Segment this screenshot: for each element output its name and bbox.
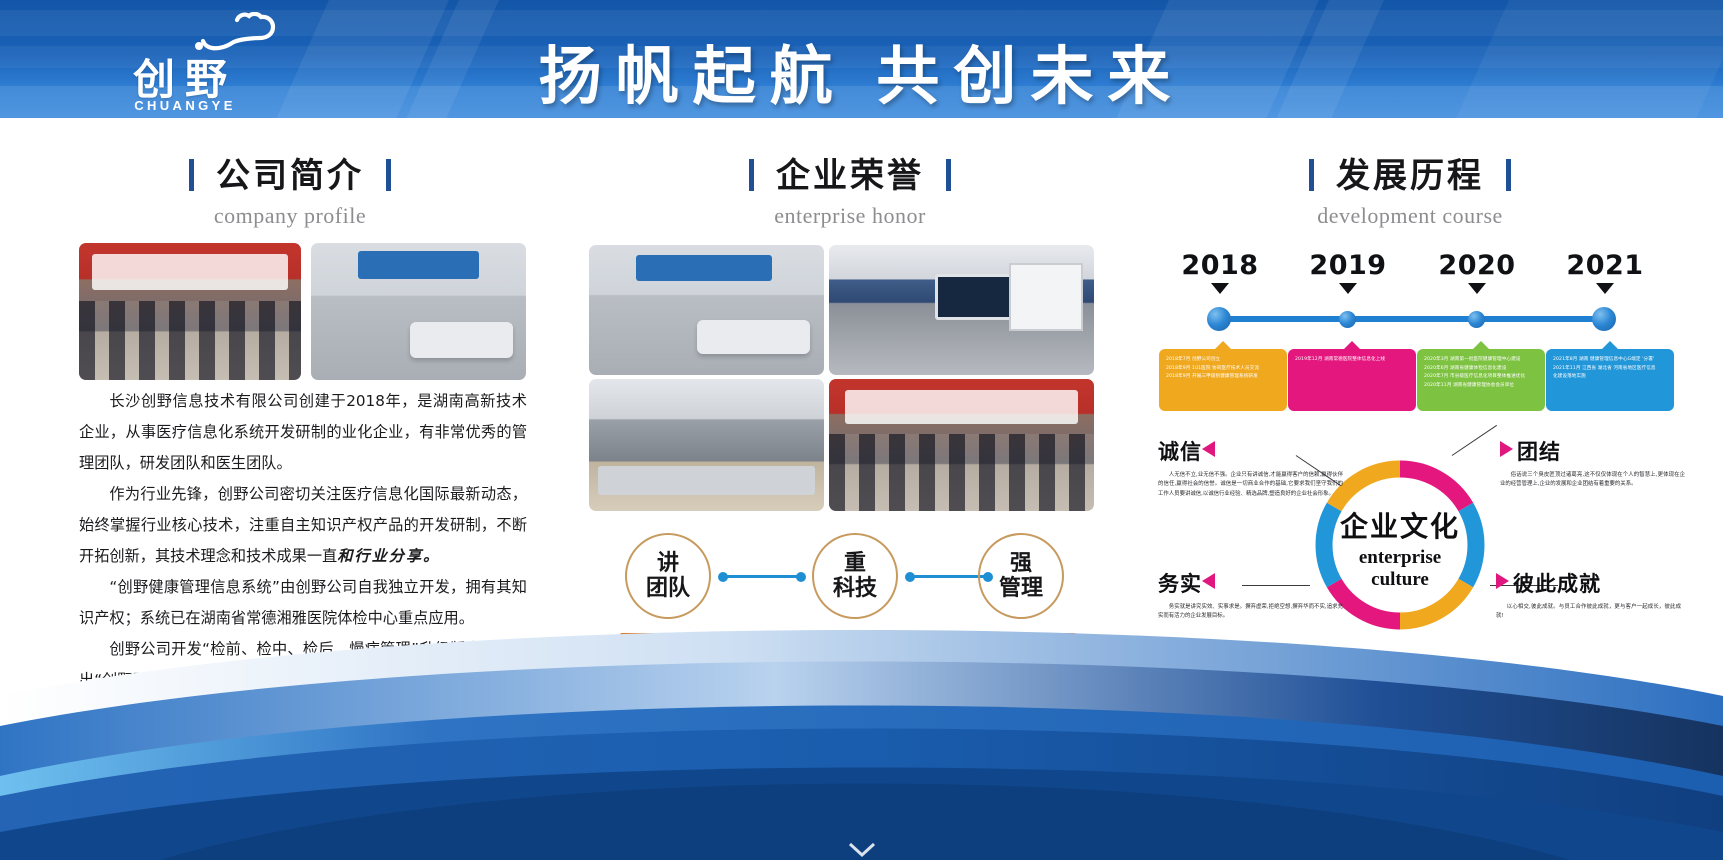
photo-honor-workspace <box>589 379 824 511</box>
milestone-line: 2021年8月 湖南 健康管理信息中心G端定 '分署' <box>1553 356 1668 365</box>
section-heading-course: 发展历程 development course <box>1200 148 1620 229</box>
section-heading-honor: 企业荣誉 enterprise honor <box>640 148 1060 229</box>
culture-item-desc: 人无信不立,业无信不强。企业只有讲诚信,才能赢得客户的信赖,赢得伙伴的信任,赢得… <box>1158 471 1343 499</box>
heading-bar-left <box>189 159 194 191</box>
timeline-milestone-2018: 2018年7月 创野公司创立 2018年9月 101医院 协同医疗技术人员交流 … <box>1159 349 1287 411</box>
arrow-left-icon <box>1202 573 1215 589</box>
arrow-right-icon <box>1496 573 1509 589</box>
heading-bar-right <box>386 159 391 191</box>
page-header: 创野 CHUANGYE 扬帆起航 共创未来 <box>0 0 1723 118</box>
milestone-line: 2020年3月 湖南第一批医院健康管理中心建设 <box>1424 356 1539 365</box>
culture-item-title: 务实 <box>1158 572 1202 596</box>
timeline-caret-2018 <box>1211 283 1229 294</box>
timeline-dot-2020[interactable] <box>1468 311 1485 328</box>
honor-circle-manage-line1: 强 <box>1010 551 1032 576</box>
timeline-milestone-2021: 2021年8月 湖南 健康管理信息中心G端定 '分署' 2021年11月 江西省… <box>1546 349 1674 411</box>
culture-item-title: 团结 <box>1517 440 1561 464</box>
heading-bar-right <box>946 159 951 191</box>
scroll-down-icon[interactable] <box>846 842 878 858</box>
timeline-year-2020: 2020 <box>1417 250 1537 281</box>
milestone-line: 2020年11月 湖南省健康管理协会会员单位 <box>1424 382 1539 391</box>
honor-circle-tech-line1: 重 <box>844 551 866 576</box>
photo-honor-presentation <box>829 245 1094 375</box>
culture-item-title: 诚信 <box>1158 440 1202 464</box>
culture-leader-2 <box>1452 425 1497 456</box>
culture-center-cn: 企业文化 <box>1310 505 1490 545</box>
photo-sofa <box>697 320 810 354</box>
milestone-line: 2019年12月 湖南常德医院整体信息化上线 <box>1295 356 1410 365</box>
photo-desk <box>598 466 814 495</box>
notch <box>1473 341 1489 349</box>
profile-paragraph-1: 长沙创野信息技术有限公司创建于2018年，是湖南高新技术企业，从事医疗信息化系统… <box>79 386 527 479</box>
milestone-line: 2020年6月 湖南省健康体检信息化建设 <box>1424 365 1539 374</box>
notch <box>1602 341 1618 349</box>
timeline-year-2019: 2019 <box>1288 250 1408 281</box>
section-heading-course-en: development course <box>1200 203 1620 229</box>
honor-circle-team-line2: 团队 <box>646 576 690 601</box>
heading-bar-right <box>1506 159 1511 191</box>
page-title: 扬帆起航 共创未来 <box>0 26 1723 117</box>
timeline-caret-2021 <box>1596 283 1614 294</box>
timeline-caret-2019 <box>1339 283 1357 294</box>
heading-bar-left <box>1309 159 1314 191</box>
timeline-dot-2019[interactable] <box>1339 311 1356 328</box>
section-heading-profile-en: company profile <box>80 203 500 229</box>
honor-connector-1 <box>722 575 802 578</box>
photo-honor-lobby <box>589 245 824 375</box>
section-heading-honor-cn: 企业荣誉 <box>749 148 951 197</box>
culture-item-unity: 团结 俗话说三个臭皮匠顶过诸葛亮,这不仅仅体现在个人的智慧上,更体现在企业的经营… <box>1500 436 1685 490</box>
arrow-right-icon <box>1500 441 1513 457</box>
timeline-dot-2018[interactable] <box>1207 307 1231 331</box>
culture-item-title: 彼此成就 <box>1513 572 1601 596</box>
timeline-caret-2020 <box>1468 283 1486 294</box>
photo-team-group <box>79 243 301 380</box>
timeline-year-2021: 2021 <box>1545 250 1665 281</box>
photo-honor-group <box>829 379 1094 511</box>
photo-people <box>829 434 1094 511</box>
section-heading-profile-cn: 公司简介 <box>189 148 391 197</box>
honor-circle-tech-line2: 科技 <box>833 576 877 601</box>
milestone-line: 2020年7月 市县级医疗信息化项目整体推进优化 <box>1424 373 1539 382</box>
honor-circle-team-line1: 讲 <box>657 551 679 576</box>
bottom-wave-decoration <box>0 600 1723 860</box>
profile-handwritten-tail: 和行业分享。 <box>337 548 440 565</box>
photo-people <box>79 301 301 380</box>
photo-wall-sign <box>636 255 772 281</box>
section-heading-course-cn: 发展历程 <box>1309 148 1511 197</box>
milestone-line: 2018年9月 开展三甲级别健康管理系统研发 <box>1166 373 1281 382</box>
timeline-milestone-2019: 2019年12月 湖南常德医院整体信息化上线 <box>1288 349 1416 411</box>
photo-banner <box>845 390 1078 424</box>
arrow-left-icon <box>1202 441 1215 457</box>
photo-office-lobby <box>311 243 526 380</box>
timeline-year-2018: 2018 <box>1160 250 1280 281</box>
heading-bar-left <box>749 159 754 191</box>
notch <box>1344 341 1360 349</box>
honor-circle-manage-line2: 管理 <box>999 576 1043 601</box>
timeline-axis <box>1222 316 1612 322</box>
milestone-line: 2018年7月 创野公司创立 <box>1166 356 1281 365</box>
photo-whiteboard <box>1009 263 1083 331</box>
culture-item-integrity: 诚信 人无信不立,业无信不强。企业只有讲诚信,才能赢得客户的信赖,赢得伙伴的信任… <box>1158 436 1343 499</box>
culture-item-desc: 俗话说三个臭皮匠顶过诸葛亮,这不仅仅体现在个人的智慧上,更体现在企业的经营管理上… <box>1500 471 1685 490</box>
honor-connector-2 <box>909 575 989 578</box>
section-heading-profile: 公司简介 company profile <box>80 148 500 229</box>
timeline-milestone-2020: 2020年3月 湖南第一批医院健康管理中心建设 2020年6月 湖南省健康体检信… <box>1417 349 1545 411</box>
milestone-line: 2021年11月 江西省 湖北省 河南省地区医疗信息 <box>1553 365 1668 374</box>
notch <box>1215 341 1231 349</box>
photo-sofa <box>410 322 513 358</box>
section-heading-honor-en: enterprise honor <box>640 203 1060 229</box>
culture-center-en1: enterprise <box>1310 547 1490 569</box>
timeline-dot-2021[interactable] <box>1592 307 1616 331</box>
photo-banner <box>92 254 287 290</box>
photo-wall-sign <box>358 251 478 278</box>
milestone-line: 化建设落地实施 <box>1553 373 1668 382</box>
profile-paragraph-2: 作为行业先锋，创野公司密切关注医疗信息化国际最新动态，始终掌握行业核心技术，注重… <box>79 479 527 572</box>
milestone-line: 2018年9月 101医院 协同医疗技术人员交流 <box>1166 365 1281 374</box>
